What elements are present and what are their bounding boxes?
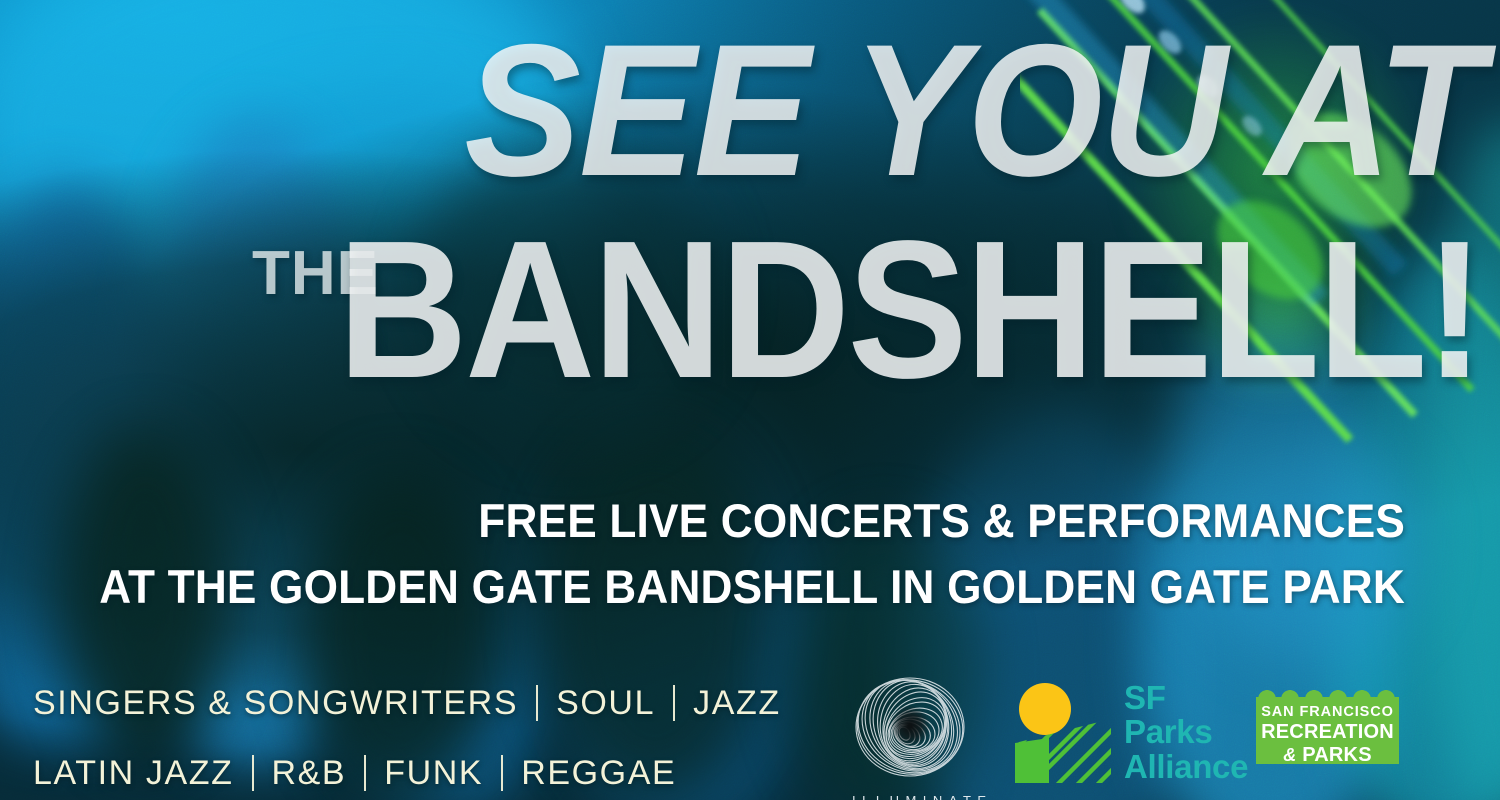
genre-item: LATIN JAZZ bbox=[33, 754, 234, 793]
rec-parks-line-2: RECREATION bbox=[1256, 721, 1399, 744]
genre-item: REGGAE bbox=[521, 754, 676, 793]
rec-parks-ampersand: & bbox=[1283, 745, 1296, 765]
genre-row-2: LATIN JAZZ R&B FUNK REGGAE bbox=[33, 746, 781, 800]
genre-item: FUNK bbox=[384, 754, 483, 793]
genre-separator-icon bbox=[673, 685, 675, 721]
rec-parks-parks-word: PARKS bbox=[1302, 744, 1372, 766]
genre-item: SOUL bbox=[556, 684, 655, 723]
rec-parks-line-3: & PARKS bbox=[1256, 744, 1399, 767]
scalloped-edge-icon bbox=[1256, 690, 1399, 699]
headline-line-2: BANDSHELL! bbox=[119, 212, 1482, 408]
headline-line-1: SEE YOU AT bbox=[104, 16, 1482, 204]
genre-list: SINGERS & SONGWRITERS SOUL JAZZ LATIN JA… bbox=[33, 676, 781, 800]
genre-separator-icon bbox=[501, 755, 503, 791]
genre-item: JAZZ bbox=[693, 684, 781, 723]
concert-promo-banner: SEE YOU AT THE BANDSHELL! FREE LIVE CONC… bbox=[0, 0, 1500, 800]
subheadline-line-2: AT THE GOLDEN GATE BANDSHELL IN GOLDEN G… bbox=[89, 563, 1405, 610]
illuminate-logo[interactable]: ILLUMINATE bbox=[846, 669, 974, 800]
genre-separator-icon bbox=[536, 685, 538, 721]
spa-line-3: Alliance bbox=[1124, 750, 1248, 784]
spa-line-1: SF bbox=[1124, 681, 1248, 715]
sun-over-field-icon bbox=[1015, 681, 1111, 783]
spa-line-2: Parks bbox=[1124, 715, 1248, 749]
sf-rec-parks-badge[interactable]: SAN FRANCISCO RECREATION & PARKS bbox=[1256, 697, 1399, 764]
genre-item: SINGERS & SONGWRITERS bbox=[33, 684, 518, 723]
genre-separator-icon bbox=[252, 755, 254, 791]
sf-parks-alliance-logo[interactable]: SF Parks Alliance bbox=[1015, 681, 1248, 784]
rec-parks-line-1: SAN FRANCISCO bbox=[1256, 704, 1399, 720]
genre-row-1: SINGERS & SONGWRITERS SOUL JAZZ bbox=[33, 676, 781, 730]
sf-parks-alliance-wordmark: SF Parks Alliance bbox=[1124, 681, 1248, 784]
subheadline-line-1: FREE LIVE CONCERTS & PERFORMANCES bbox=[89, 497, 1405, 544]
genre-item: R&B bbox=[272, 754, 347, 793]
genre-separator-icon bbox=[364, 755, 366, 791]
spiral-mandala-icon bbox=[852, 669, 968, 785]
illuminate-label: ILLUMINATE bbox=[846, 793, 974, 800]
